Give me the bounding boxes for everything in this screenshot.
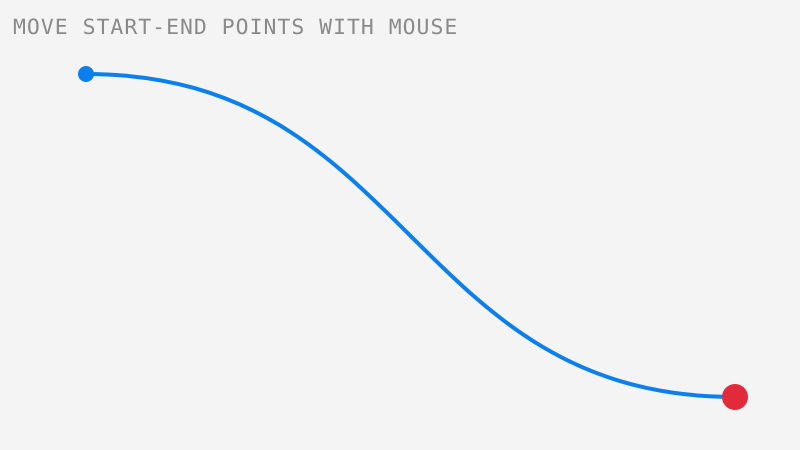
bezier-canvas[interactable] xyxy=(0,0,800,450)
end-point-drag-target[interactable] xyxy=(718,380,752,414)
start-point-drag-target[interactable] xyxy=(74,62,98,86)
canvas-stage[interactable]: MOVE START-END POINTS WITH MOUSE xyxy=(0,0,800,450)
page-title: MOVE START-END POINTS WITH MOUSE xyxy=(13,14,458,40)
